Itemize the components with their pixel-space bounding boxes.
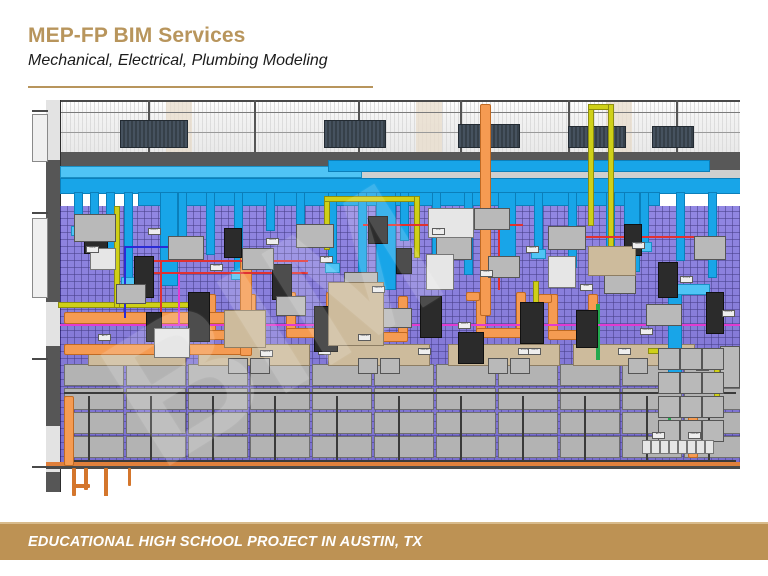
mechanical-equipment-dark [520,302,544,344]
mechanical-equipment-dark [420,296,442,338]
mechanical-equipment [646,304,682,326]
floor-band-panel [250,412,310,434]
roof-panel-beige [416,102,442,154]
equipment-tag: VAV-12 [688,432,701,439]
mechanical-equipment [380,308,412,328]
equipment-housing [548,256,576,288]
floor-band-panel [250,436,310,458]
floor-band-panel [126,436,186,458]
wall-tie [32,358,48,360]
rooftop-unit [324,120,386,148]
equipment-tag: CU-4 [528,348,541,355]
floor-band-panel [188,436,248,458]
mechanical-equipment-dark [368,216,388,244]
panel-board-cell [702,420,724,442]
domestic-water-riser [178,274,180,326]
mechanical-equipment [694,236,726,260]
equipment-tag: RTU-2 [680,276,693,283]
breaker-unit [678,440,687,454]
panel-board-cell [680,348,702,370]
duct-drop-branch [534,192,543,251]
corridor-post [274,396,276,462]
plumbing-stub [466,292,480,301]
floor-band-panel [374,412,434,434]
wall-panel-unit [488,358,508,374]
mechanical-equipment-dark [396,248,412,274]
underground-pipe-drop [128,468,131,486]
panel-board-cell [702,396,724,418]
mechanical-equipment [74,214,116,242]
wall-panel-unit [250,358,270,374]
equipment-tag: MDP [580,284,593,291]
duct-drop-branch [676,192,685,261]
project-caption: EDUCATIONAL HIGH SCHOOL PROJECT IN AUSTI… [28,534,422,550]
floor-band-panel [64,364,124,386]
equipment-tag: VAV-8 [210,264,223,271]
wall-panel-unit [228,358,248,374]
equipment-tag: VAV-9 [266,238,279,245]
equipment-tag: AHU-3 [372,286,385,293]
wall-panel [32,218,48,298]
page-title: MEP-FP BIM Services [28,24,748,48]
wall-panel [32,114,48,162]
rooftop-unit [120,120,188,148]
floor-band-panel [374,436,434,458]
casework-unit [328,344,430,366]
floor-band-panel [560,436,620,458]
corridor-post [212,396,214,462]
floor-band-panel [188,412,248,434]
equipment-tag: VAV-5 [632,242,645,249]
roof-mullion [254,100,256,152]
mechanical-equipment [168,236,204,260]
bim-model-geometry: AHU-1AHU-2EF-3VAV-12RTU-4P-1CU-2FCU-7VAV… [28,96,740,496]
floor-band-panel [560,412,620,434]
duct-drop-branch [358,192,367,282]
duct-drop-branch [266,192,275,231]
breaker-unit [651,440,660,454]
title-block: MEP-FP BIM Services Mechanical, Electric… [28,24,748,71]
wall-panel-unit [358,358,378,374]
corridor-post [336,396,338,462]
corridor-post [522,396,524,462]
floor-band-panel [126,364,186,386]
air-handling-unit [224,310,266,348]
equipment-tag: EF-5 [98,334,111,341]
mechanical-equipment [548,226,586,250]
floor-band-panel [436,436,496,458]
sprinkler-riser [160,260,162,314]
wall-panel-unit [510,358,530,374]
left-wall-light-panel [46,302,60,346]
mechanical-equipment-dark [658,262,678,298]
footer-band: EDUCATIONAL HIGH SCHOOL PROJECT IN AUSTI… [0,522,768,560]
floor-band-panel [436,364,496,386]
mechanical-equipment-dark [272,264,292,300]
mechanical-equipment-dark [188,292,210,342]
floor-band-panel [312,412,372,434]
underground-pipe-drop [104,468,108,496]
equipment-tag: EF-3 [652,432,665,439]
panel-board-cell [658,396,680,418]
underground-pipe-run [72,484,90,488]
upper-supply-header [328,160,710,172]
equipment-tag: VAV-3 [526,246,539,253]
equipment-tag: FCU-2 [722,310,735,317]
panel-board-cell [702,372,724,394]
mechanical-equipment-dark [458,332,484,364]
electrical-conduit-run [324,196,418,202]
equipment-tag: WH-1 [458,322,471,329]
corridor-rail [64,392,736,394]
mechanical-equipment [116,284,146,304]
mechanical-equipment [474,208,510,230]
slide-canvas: MEP-FP BIM Services Mechanical, Electric… [0,0,768,576]
wall-panel-unit [628,358,648,374]
title-underline-rule [28,86,373,88]
return-air-trunk [60,166,362,178]
equipment-tag: P-1 [618,348,631,355]
underground-pipe-drop [72,468,76,496]
floor-band-panel [312,436,372,458]
floor-band-panel [498,436,558,458]
duct-drop-branch [708,192,717,278]
sprinkler-main [148,260,308,262]
breaker-unit [696,440,705,454]
panel-board-cell [658,372,680,394]
low-voltage-riser [124,246,126,318]
electrical-conduit-riser [588,104,594,226]
floor-band-panel [126,412,186,434]
left-wall-light-panel [46,100,60,160]
equipment-housing [426,254,454,290]
equipment-tag: AHU-2 [260,350,273,357]
breaker-unit [642,440,651,454]
corridor-post [584,396,586,462]
plumbing-main-drop [64,396,74,466]
equipment-tag: VAV-12 [418,348,431,355]
corridor-post [150,396,152,462]
wall-panel-unit [380,358,400,374]
breaker-unit [687,440,696,454]
floor-band-panel [560,364,620,386]
corridor-rail [64,460,736,462]
corridor-post [88,396,90,462]
roof-edge-line [46,112,740,113]
equipment-housing [154,328,190,358]
corridor-post [460,396,462,462]
bim-model-viewport: AHU-1AHU-2EF-3VAV-12RTU-4P-1CU-2FCU-7VAV… [28,96,740,496]
equipment-tag: P-2 [432,228,445,235]
panel-board-cell [680,372,702,394]
panel-board-cell [680,396,702,418]
breaker-unit [705,440,714,454]
equipment-tag: VAV-21 [358,334,371,341]
equipment-tag: CU-1 [480,270,493,277]
mechanical-equipment [242,248,274,270]
mechanical-equipment-dark [576,310,598,348]
mechanical-equipment [276,296,306,316]
corridor-post [398,396,400,462]
breaker-unit [669,440,678,454]
rooftop-unit [652,126,694,148]
panel-board-cell [658,348,680,370]
floor-band-panel [436,412,496,434]
duct-drop-branch [178,192,187,238]
air-handling-unit [588,246,636,276]
wall-tie [32,110,48,112]
duct-drop-branch [206,192,215,255]
wall-tie [32,212,48,214]
floor-band-panel [498,412,558,434]
electrical-conduit-riser [414,196,420,258]
equipment-tag: FCU-7 [148,228,161,235]
equipment-tag: EF-1 [320,256,333,263]
page-subtitle: Mechanical, Electrical, Plumbing Modelin… [28,51,748,71]
duct-elbow [325,263,340,273]
panel-board-cell [702,348,724,370]
equipment-tag: VAV-14 [640,328,653,335]
breaker-unit [660,440,669,454]
mechanical-equipment [296,224,334,248]
rooftop-unit [568,126,626,148]
mechanical-equipment-dark [224,228,242,258]
equipment-tag: CU-2 [86,246,99,253]
slab-on-grade [46,466,740,469]
